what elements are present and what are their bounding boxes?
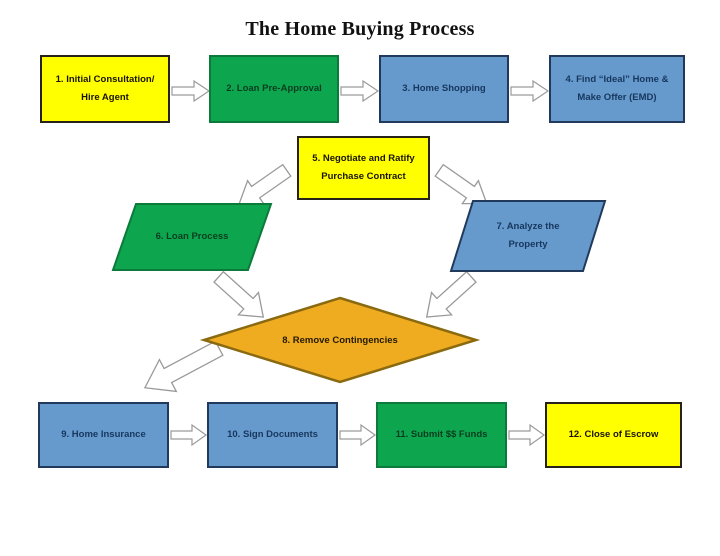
- node-step-5-label: 5. Negotiate and Ratify Purchase Contrac…: [312, 150, 414, 185]
- node-step-12[interactable]: 12. Close of Escrow: [545, 402, 682, 468]
- page-title: The Home Buying Process: [0, 18, 720, 41]
- node-step-6[interactable]: 6. Loan Process: [112, 203, 272, 271]
- connector-11-to-12: [509, 424, 545, 446]
- node-step-2-label: 2. Loan Pre-Approval: [226, 80, 322, 98]
- parallelogram-shape-7: [450, 200, 606, 272]
- node-step-5[interactable]: 5. Negotiate and Ratify Purchase Contrac…: [297, 136, 430, 200]
- flowchart-canvas: The Home Buying Process 1. Initial Consu…: [0, 0, 720, 556]
- node-step-3[interactable]: 3. Home Shopping: [379, 55, 509, 123]
- node-step-1-line1: 1. Initial Consultation/: [56, 74, 155, 85]
- node-step-4-line2: Make Offer (EMD): [577, 92, 656, 103]
- parallelogram-shape-6: [112, 203, 272, 271]
- node-step-4-line1: 4. Find “Ideal” Home &: [566, 74, 669, 85]
- node-step-1-label: 1. Initial Consultation/ Hire Agent: [56, 71, 155, 106]
- node-step-9[interactable]: 9. Home Insurance: [38, 402, 169, 468]
- node-step-2[interactable]: 2. Loan Pre-Approval: [209, 55, 339, 123]
- node-step-10[interactable]: 10. Sign Documents: [207, 402, 338, 468]
- node-step-5-line2: Purchase Contract: [321, 171, 405, 182]
- node-step-8[interactable]: 8. Remove Contingencies: [202, 296, 478, 384]
- node-step-9-label: 9. Home Insurance: [61, 426, 145, 444]
- node-step-7[interactable]: 7. Analyze the Property: [450, 200, 606, 272]
- node-step-3-label: 3. Home Shopping: [402, 80, 485, 98]
- connector-3-to-4: [511, 80, 549, 102]
- node-step-4-label: 4. Find “Ideal” Home & Make Offer (EMD): [566, 71, 669, 106]
- connector-1-to-2: [172, 80, 210, 102]
- node-step-12-label: 12. Close of Escrow: [569, 426, 659, 444]
- node-step-11[interactable]: 11. Submit $$ Funds: [376, 402, 507, 468]
- diamond-shape-8: [202, 296, 478, 384]
- connector-2-to-3: [341, 80, 379, 102]
- node-step-1-line2: Hire Agent: [81, 92, 129, 103]
- connector-9-to-10: [171, 424, 207, 446]
- node-step-11-label: 11. Submit $$ Funds: [396, 426, 488, 444]
- node-step-4[interactable]: 4. Find “Ideal” Home & Make Offer (EMD): [549, 55, 685, 123]
- node-step-1[interactable]: 1. Initial Consultation/ Hire Agent: [40, 55, 170, 123]
- node-step-5-line1: 5. Negotiate and Ratify: [312, 153, 414, 164]
- node-step-10-label: 10. Sign Documents: [227, 426, 318, 444]
- connector-10-to-11: [340, 424, 376, 446]
